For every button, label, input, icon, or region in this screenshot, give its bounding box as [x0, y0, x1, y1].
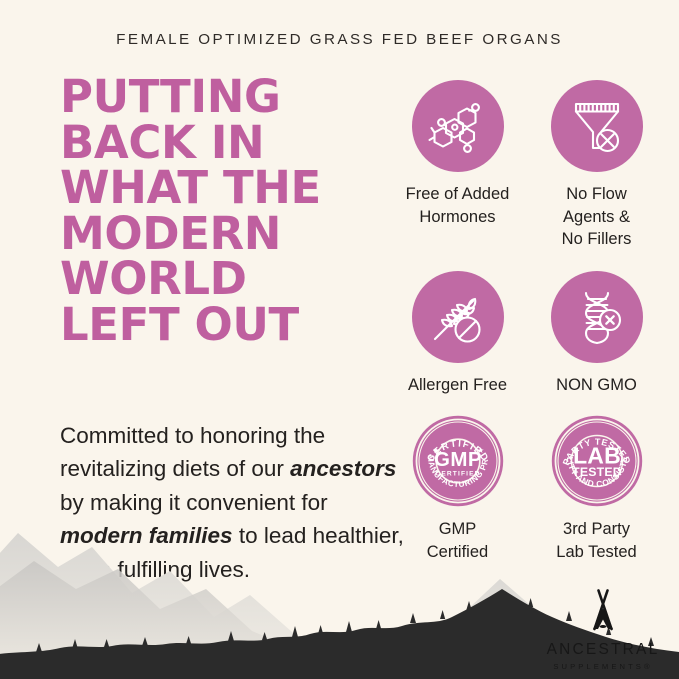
badge-label: Free of Added Hormones: [406, 183, 510, 228]
badge-no-flow-agents-no-fillers: No Flow Agents & No Fillers: [527, 80, 666, 251]
badge-label: NON GMO: [556, 374, 637, 397]
body-segment: Committed to honoring the revitalizing d…: [60, 423, 325, 482]
badge-row: CERTIFIED GOOD MANUFACTURING PRACTICE ★ …: [388, 415, 666, 563]
badge-disc: [551, 271, 643, 363]
brand-logo: ANCESTRAL SUPPLEMENTS®: [543, 588, 663, 671]
gmp-center-main: GMP: [434, 448, 482, 471]
headline-line: WORLD: [60, 256, 390, 302]
badge-3rd-party-lab-tested: 3RD PARTY TESTED FOR QUALITY AND CONSIST…: [527, 415, 666, 563]
dna-non-gmo-icon: [569, 289, 625, 345]
headline-line: PUTTING: [60, 74, 390, 120]
lab-center-sub: TESTED: [572, 465, 622, 479]
gmp-center-sub: CERTIFIED: [435, 471, 480, 478]
hormone-molecule-icon: [427, 95, 489, 157]
lab-tested-seal-icon: 3RD PARTY TESTED FOR QUALITY AND CONSIST…: [551, 415, 643, 507]
logo-brand-subtitle: SUPPLEMENTS®: [553, 662, 652, 671]
headline-line: WHAT THE: [60, 165, 390, 211]
badge-allergen-free: Allergen Free: [388, 271, 527, 397]
headline-line: LEFT OUT: [60, 302, 390, 348]
logo-brand-name: ANCESTRAL: [547, 641, 660, 659]
badge-label: 3rd Party Lab Tested: [556, 518, 636, 563]
grid-gap: [388, 396, 666, 415]
badge-disc: [551, 80, 643, 172]
badge-label: Allergen Free: [408, 374, 507, 397]
eyebrow-tagline: FEMALE OPTIMIZED GRASS FED BEEF ORGANS: [0, 31, 679, 48]
badge-non-gmo: NON GMO: [527, 271, 666, 397]
page-title: PUTTING BACK IN WHAT THE MODERN WORLD LE…: [60, 74, 390, 347]
body-emphasis-ancestors: ancestors: [290, 456, 396, 481]
body-emphasis-modern-families: modern families: [60, 523, 233, 548]
badge-label: GMP Certified: [427, 518, 488, 563]
badge-disc: CERTIFIED GOOD MANUFACTURING PRACTICE ★ …: [412, 415, 504, 507]
funnel-no-flow-agents-icon: [567, 96, 627, 156]
badge-gmp-certified: CERTIFIED GOOD MANUFACTURING PRACTICE ★ …: [388, 415, 527, 563]
teepee-logo-icon: [580, 588, 626, 634]
wheat-allergen-free-icon: [428, 287, 488, 347]
badge-grid: Free of Added Hormones: [388, 80, 666, 563]
headline-block: PUTTING BACK IN WHAT THE MODERN WORLD LE…: [60, 74, 390, 347]
gmp-certified-seal-icon: CERTIFIED GOOD MANUFACTURING PRACTICE ★ …: [412, 415, 504, 507]
badge-disc: [412, 80, 504, 172]
body-segment: by making it convenient for: [60, 490, 328, 515]
headline-line: BACK IN: [60, 120, 390, 166]
badge-row: Allergen Free: [388, 271, 666, 397]
badge-disc: [412, 271, 504, 363]
infographic-page: FEMALE OPTIMIZED GRASS FED BEEF ORGANS P…: [0, 0, 679, 679]
badge-row: Free of Added Hormones: [388, 80, 666, 251]
body-paragraph: Committed to honoring the revitalizing d…: [60, 419, 410, 587]
badge-free-of-added-hormones: Free of Added Hormones: [388, 80, 527, 251]
badge-disc: 3RD PARTY TESTED FOR QUALITY AND CONSIST…: [551, 415, 643, 507]
badge-label: No Flow Agents & No Fillers: [562, 183, 632, 251]
grid-gap: [388, 251, 666, 271]
headline-line: MODERN: [60, 211, 390, 257]
